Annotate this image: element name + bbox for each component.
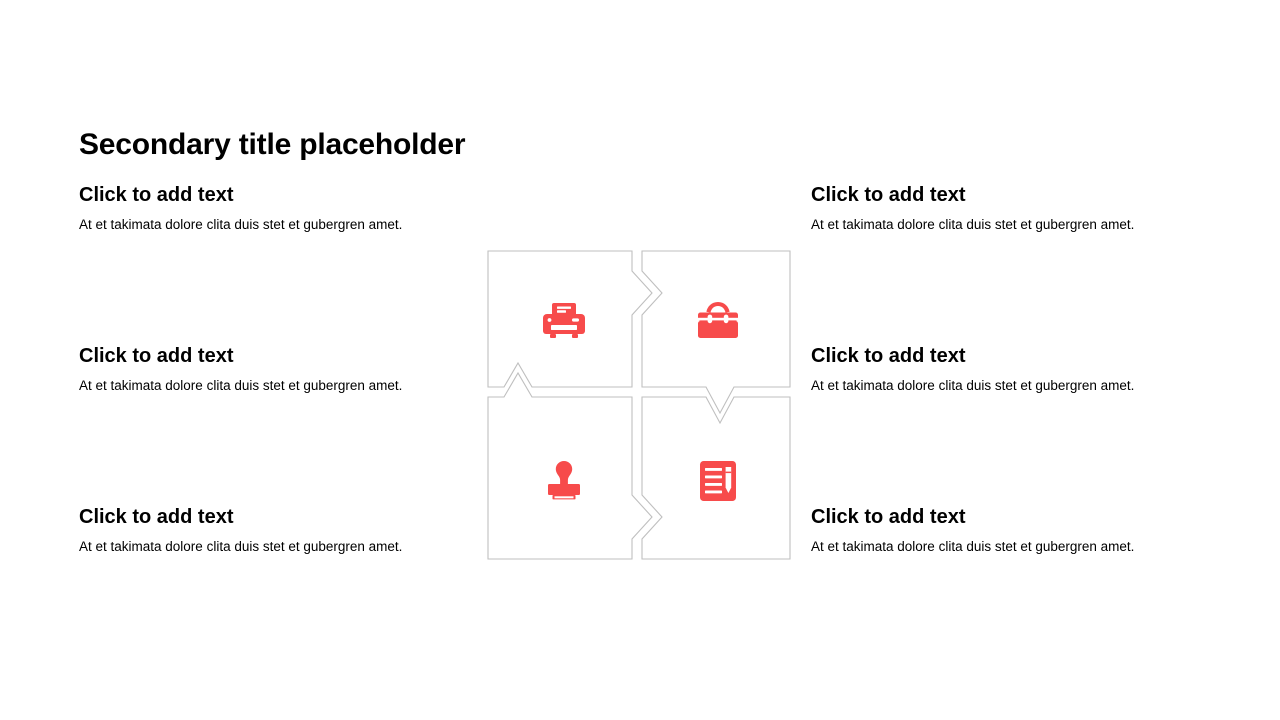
text-block-body[interactable]: At et takimata dolore clita duis stet et… (79, 377, 499, 394)
text-block-heading[interactable]: Click to add text (811, 344, 1231, 368)
text-block-right-row-3[interactable]: Click to add text At et takimata dolore … (811, 505, 1231, 555)
text-block-left-row-1[interactable]: Click to add text At et takimata dolore … (79, 183, 499, 233)
text-block-heading[interactable]: Click to add text (79, 505, 499, 529)
text-block-body[interactable]: At et takimata dolore clita duis stet et… (811, 216, 1231, 233)
page-title: Secondary title placeholder (79, 127, 465, 163)
slide-canvas: Secondary title placeholder Click to add… (0, 0, 1280, 720)
text-block-heading[interactable]: Click to add text (811, 183, 1231, 207)
text-block-right-row-1[interactable]: Click to add text At et takimata dolore … (811, 183, 1231, 233)
text-block-body[interactable]: At et takimata dolore clita duis stet et… (79, 216, 499, 233)
text-block-body[interactable]: At et takimata dolore clita duis stet et… (79, 538, 499, 555)
text-block-left-row-3[interactable]: Click to add text At et takimata dolore … (79, 505, 499, 555)
text-block-heading[interactable]: Click to add text (79, 344, 499, 368)
text-block-body[interactable]: At et takimata dolore clita duis stet et… (811, 377, 1231, 394)
text-block-body[interactable]: At et takimata dolore clita duis stet et… (811, 538, 1231, 555)
rubber-stamp-icon (540, 457, 588, 505)
toolbox-icon (694, 297, 742, 345)
text-block-right-row-2[interactable]: Click to add text At et takimata dolore … (811, 344, 1231, 394)
text-block-left-row-2[interactable]: Click to add text At et takimata dolore … (79, 344, 499, 394)
text-block-heading[interactable]: Click to add text (811, 505, 1231, 529)
printer-icon (540, 297, 588, 345)
document-pencil-icon (694, 457, 742, 505)
text-block-heading[interactable]: Click to add text (79, 183, 499, 207)
puzzle-diagram (484, 247, 796, 563)
